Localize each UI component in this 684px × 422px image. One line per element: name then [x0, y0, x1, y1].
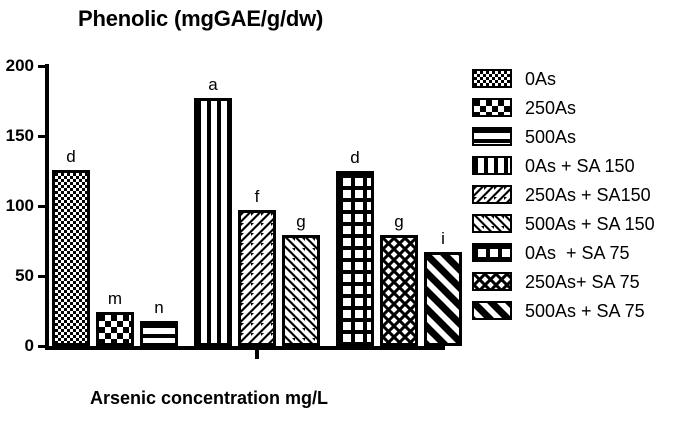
legend-label: 0As: [525, 70, 556, 88]
bar-significance-letter: d: [52, 148, 90, 165]
legend-swatch-vertical-lines-icon: [472, 156, 512, 175]
legend-label: 0As + SA 75: [525, 244, 630, 262]
legend-swatch-horizontal-lines-icon: [472, 127, 512, 146]
x-axis-title: Arsenic concentration mg/L: [90, 388, 328, 409]
chart-figure: Phenolic (mgGAE/g/dw) 050100150200 dmnaf…: [0, 0, 684, 422]
bar: [238, 210, 276, 346]
legend-swatch-fine-checker-icon: [472, 69, 512, 88]
legend-swatch-wide-diagonal-backward-icon: [472, 301, 512, 320]
bar-significance-letter: f: [238, 188, 276, 205]
legend-label: 250As+ SA 75: [525, 273, 640, 291]
bar: [140, 321, 178, 346]
legend-swatch-diagonal-hatch-forward-icon: [472, 185, 512, 204]
legend-swatch-grid-crosshatch-icon: [472, 243, 512, 262]
bar: [96, 312, 134, 346]
legend: 0As250As500As0As + SA 150250As + SA15050…: [472, 64, 684, 325]
legend-item[interactable]: 500As + SA 150: [472, 209, 684, 238]
bar-significance-letter: n: [140, 299, 178, 316]
bar: [336, 171, 374, 346]
plot-area: 050100150200 dmnafgdgi: [0, 0, 470, 370]
legend-label: 250As + SA150: [525, 186, 651, 204]
legend-swatch-diagonal-hatch-backward-icon: [472, 214, 512, 233]
legend-label: 500As + SA 75: [525, 302, 645, 320]
bar: [52, 170, 90, 346]
legend-item[interactable]: 250As + SA150: [472, 180, 684, 209]
bar-significance-letter: a: [194, 76, 232, 93]
legend-item[interactable]: 0As + SA 150: [472, 151, 684, 180]
bar-series: dmnafgdgi: [0, 0, 470, 370]
bar-significance-letter: g: [282, 213, 320, 230]
legend-item[interactable]: 0As + SA 75: [472, 238, 684, 267]
legend-label: 500As: [525, 128, 576, 146]
legend-item[interactable]: 500As + SA 75: [472, 296, 684, 325]
bar: [282, 235, 320, 346]
bar-significance-letter: g: [380, 213, 418, 230]
legend-item[interactable]: 500As: [472, 122, 684, 151]
legend-item[interactable]: 0As: [472, 64, 684, 93]
bar: [380, 235, 418, 346]
legend-item[interactable]: 250As+ SA 75: [472, 267, 684, 296]
bar-significance-letter: m: [96, 290, 134, 307]
bar-significance-letter: d: [336, 149, 374, 166]
legend-swatch-diagonal-crosshatch-icon: [472, 272, 512, 291]
legend-label: 250As: [525, 99, 576, 117]
legend-item[interactable]: 250As: [472, 93, 684, 122]
legend-swatch-coarse-checker-icon: [472, 98, 512, 117]
legend-label: 500As + SA 150: [525, 215, 655, 233]
bar: [424, 252, 462, 346]
bar: [194, 98, 232, 346]
bar-significance-letter: i: [424, 230, 462, 247]
legend-label: 0As + SA 150: [525, 157, 635, 175]
